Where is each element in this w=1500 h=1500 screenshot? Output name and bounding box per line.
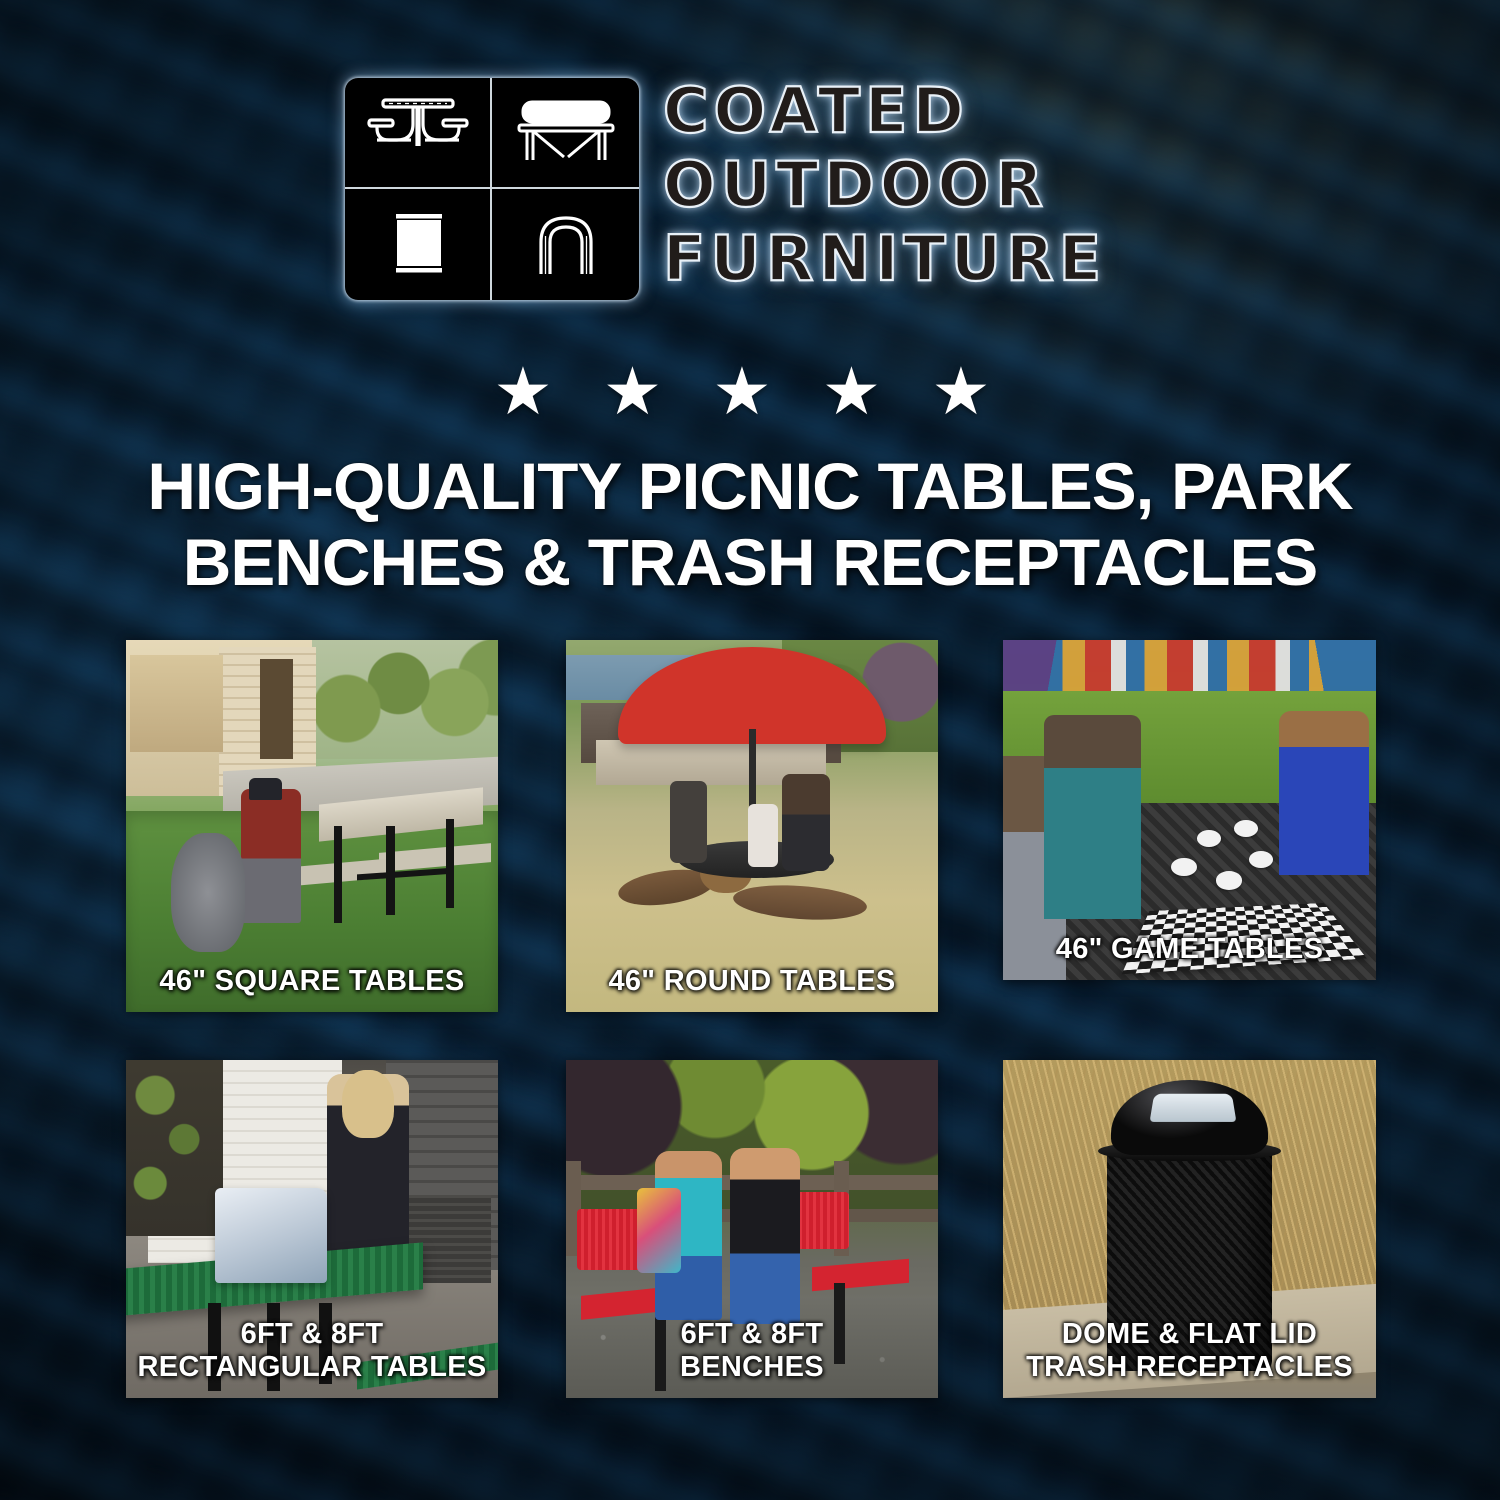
product-tile-game-tables[interactable]: 46" GAME TABLES bbox=[1003, 640, 1376, 980]
brand-wordmark: COATED OUTDOOR FURNITURE bbox=[663, 74, 1403, 296]
product-tile-benches[interactable]: 6FT & 8FT BENCHES bbox=[566, 1060, 938, 1398]
product-caption: 46" SQUARE TABLES bbox=[126, 965, 498, 998]
headline-line-1: HIGH-QUALITY PICNIC TABLES, PARK bbox=[56, 448, 1443, 524]
brand-word-2: OUTDOOR bbox=[663, 148, 1403, 222]
product-tile-rectangular-tables[interactable]: 6FT & 8FT RECTANGULAR TABLES bbox=[126, 1060, 498, 1398]
page-headline: HIGH-QUALITY PICNIC TABLES, PARK BENCHES… bbox=[56, 448, 1443, 600]
brand-word-1: COATED bbox=[663, 74, 1403, 148]
flat-lid-trash-receptacle-icon bbox=[345, 189, 492, 300]
dome-lid-trash-receptacle-icon bbox=[492, 189, 639, 300]
product-caption: 6FT & 8FT BENCHES bbox=[566, 1318, 938, 1384]
logo-mark-box bbox=[345, 78, 639, 300]
product-caption: 46" GAME TABLES bbox=[1003, 933, 1376, 966]
product-caption: 6FT & 8FT RECTANGULAR TABLES bbox=[126, 1318, 498, 1384]
product-photo-round-tables bbox=[566, 640, 938, 1012]
product-tile-square-tables[interactable]: 46" SQUARE TABLES bbox=[126, 640, 498, 1012]
picnic-table-icon bbox=[345, 78, 492, 189]
product-caption: DOME & FLAT LID TRASH RECEPTACLES bbox=[1003, 1318, 1376, 1384]
brand-logo: COATED OUTDOOR FURNITURE bbox=[345, 78, 1405, 303]
product-photo-game-tables bbox=[1003, 640, 1376, 980]
headline-line-2: BENCHES & TRASH RECEPTACLES bbox=[56, 524, 1443, 600]
brand-word-3: FURNITURE bbox=[663, 222, 1403, 296]
five-star-rating: ★ ★ ★ ★ ★ bbox=[0, 358, 1500, 424]
product-caption: 46" ROUND TABLES bbox=[566, 965, 938, 998]
product-tile-round-tables[interactable]: 46" ROUND TABLES bbox=[566, 640, 938, 1012]
product-tile-trash-receptacles[interactable]: DOME & FLAT LID TRASH RECEPTACLES bbox=[1003, 1060, 1376, 1398]
park-bench-icon bbox=[492, 78, 639, 189]
product-photo-square-tables bbox=[126, 640, 498, 1012]
